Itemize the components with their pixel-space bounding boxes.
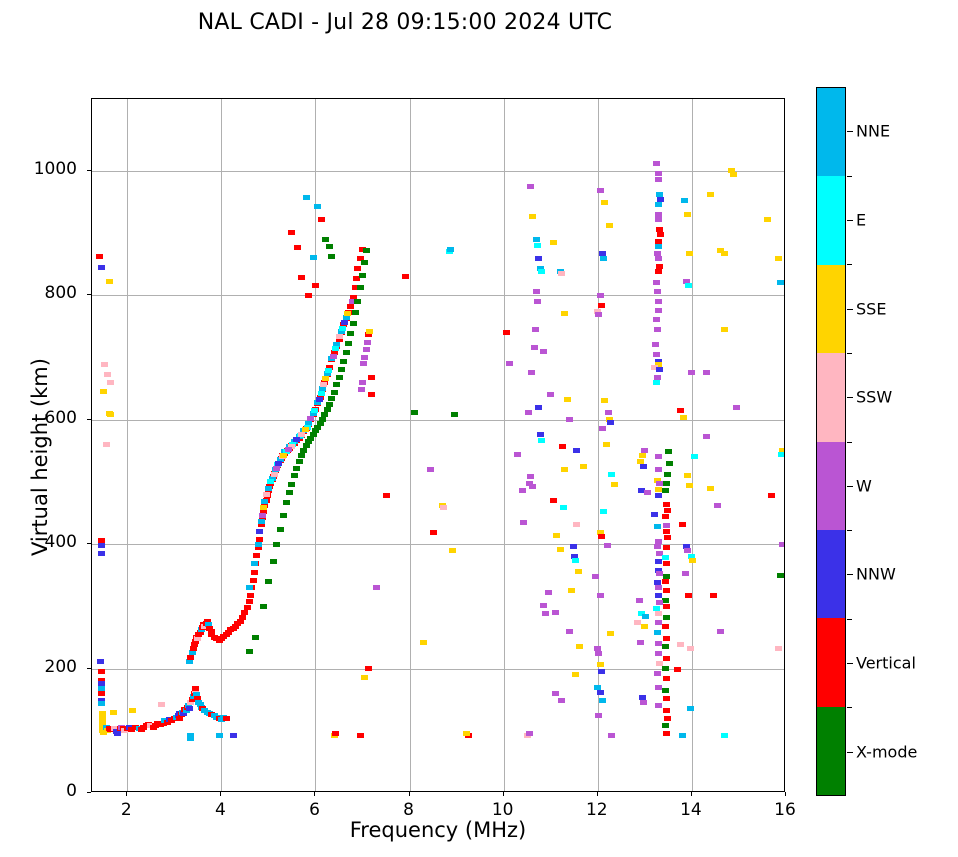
echo-point (542, 611, 549, 616)
colorbar-label-vertical: Vertical (856, 654, 916, 673)
echo-point (253, 553, 260, 558)
echo-point (601, 200, 608, 205)
echo-point (363, 347, 370, 352)
echo-point (533, 289, 540, 294)
echo-point (534, 243, 541, 248)
echo-point (595, 651, 602, 656)
x-tick-mark (126, 792, 127, 796)
x-tick-label: 2 (96, 800, 156, 820)
echo-point (733, 405, 740, 410)
echo-point (655, 467, 662, 472)
echo-point (550, 498, 557, 503)
y-tick-label: 1000 (17, 159, 77, 179)
echo-point (714, 503, 721, 508)
echo-point (340, 359, 347, 364)
echo-point (325, 368, 332, 373)
echo-point (298, 275, 305, 280)
echo-point (332, 346, 339, 351)
y-tick-mark (87, 543, 91, 544)
echo-point (655, 703, 662, 708)
echo-point (291, 473, 298, 478)
echo-point (98, 691, 105, 696)
echo-point (158, 702, 165, 707)
echo-point (328, 254, 335, 259)
echo-point (358, 387, 365, 392)
colorbar-tick (847, 131, 853, 132)
echo-point (559, 444, 566, 449)
echo-point (552, 610, 559, 615)
echo-point (440, 505, 447, 510)
echo-point (656, 481, 663, 486)
echo-point (265, 579, 272, 584)
echo-point (598, 534, 605, 539)
echo-point (663, 636, 670, 641)
echo-point (265, 486, 272, 491)
echo-point (359, 380, 366, 385)
echo-point (608, 733, 615, 738)
echo-point (357, 285, 364, 290)
echo-point (710, 593, 717, 598)
x-tick-mark (220, 792, 221, 796)
echo-point (777, 573, 784, 578)
echo-point (655, 171, 662, 176)
echo-point (324, 407, 331, 412)
echo-point (189, 650, 196, 655)
echo-point (654, 524, 661, 529)
echo-point (537, 432, 544, 437)
echo-point (525, 410, 532, 415)
echo-point (430, 530, 437, 535)
echo-point (280, 513, 287, 518)
echo-point (332, 731, 339, 736)
colorbar-band-nnw[interactable] (817, 530, 845, 618)
echo-point (255, 542, 262, 547)
echo-point (607, 420, 614, 425)
echo-point (503, 330, 510, 335)
echo-point (354, 299, 361, 304)
echo-point (361, 355, 368, 360)
x-tick-mark (597, 792, 598, 796)
echo-point (318, 391, 325, 396)
echo-point (604, 543, 611, 548)
echo-point (558, 271, 565, 276)
echo-point (662, 555, 669, 560)
echo-point (601, 398, 608, 403)
echo-point (540, 603, 547, 608)
echo-point (527, 474, 534, 479)
echo-point (336, 334, 343, 339)
echo-point (655, 585, 662, 590)
echo-point (463, 731, 470, 736)
echo-point (662, 666, 669, 671)
echo-point (538, 269, 545, 274)
echo-point (644, 490, 651, 495)
echo-point (721, 733, 728, 738)
echo-point (592, 574, 599, 579)
colorbar-tick (847, 220, 853, 221)
echo-point (637, 640, 644, 645)
colorbar-band-w[interactable] (817, 442, 845, 530)
echo-point (363, 248, 370, 253)
echo-point (550, 240, 557, 245)
x-tick-mark (409, 792, 410, 796)
colorbar-tick (847, 486, 853, 487)
echo-point (595, 312, 602, 317)
echo-point (273, 542, 280, 547)
colorbar-tick (847, 574, 853, 575)
echo-point (354, 266, 361, 271)
echo-point (285, 447, 292, 452)
echo-point (293, 437, 300, 442)
echo-point (764, 217, 771, 222)
echo-point (529, 484, 536, 489)
colorbar-band-nne[interactable] (817, 88, 845, 176)
echo-point (653, 280, 660, 285)
echo-point (655, 177, 662, 182)
echo-point (540, 349, 547, 354)
colorbar-tick (847, 663, 853, 664)
echo-point (662, 644, 669, 649)
colorbar-label-x-mode: X-mode (856, 742, 917, 761)
echo-point (655, 487, 662, 492)
echo-point (775, 646, 782, 651)
echo-point (364, 340, 371, 345)
echo-point (684, 212, 691, 217)
echo-point (655, 217, 662, 222)
echo-point (260, 604, 267, 609)
echo-point (347, 304, 354, 309)
echo-point (447, 247, 454, 252)
y-tick-label: 0 (17, 781, 77, 801)
echo-point (707, 192, 714, 197)
echo-point (663, 561, 670, 566)
echo-point (534, 299, 541, 304)
echo-point (685, 283, 692, 288)
echo-point (273, 466, 280, 471)
echo-point (368, 392, 375, 397)
echo-point (662, 514, 669, 519)
echo-point (600, 256, 607, 261)
echo-point (302, 427, 309, 432)
echo-point (187, 736, 194, 741)
echo-point (662, 688, 669, 693)
echo-point (598, 669, 605, 674)
colorbar-boundary-tick (847, 353, 852, 354)
echo-point (607, 631, 614, 636)
echo-point (98, 265, 105, 270)
echo-point (526, 731, 533, 736)
echo-point (663, 502, 670, 507)
echo-point (277, 527, 284, 532)
echo-point (597, 662, 604, 667)
plot-area[interactable] (91, 98, 785, 792)
echo-point (271, 472, 278, 477)
echo-point (366, 329, 373, 334)
echo-point (320, 382, 327, 387)
echo-point (106, 279, 113, 284)
echo-point (98, 669, 105, 674)
echo-point (687, 646, 694, 651)
echo-point (684, 548, 691, 553)
echo-point (775, 256, 782, 261)
y-axis-label: Virtual height (km) (28, 207, 52, 707)
echo-point (347, 331, 354, 336)
echo-point (655, 244, 662, 249)
echo-point (129, 708, 136, 713)
echo-point (270, 559, 277, 564)
echo-point (575, 569, 582, 574)
echo-point (721, 251, 728, 256)
colorbar-boundary-tick (847, 264, 852, 265)
echo-point (640, 700, 647, 705)
x-tick-label: 12 (567, 800, 627, 820)
echo-point (570, 544, 577, 549)
echo-point (566, 629, 573, 634)
echo-point (730, 172, 737, 177)
echo-point (247, 593, 254, 598)
echo-point (360, 361, 367, 366)
echo-point (216, 733, 223, 738)
echo-point (331, 390, 338, 395)
echo-point (286, 490, 293, 495)
echo-point (223, 716, 230, 721)
echo-point (316, 397, 323, 402)
echo-point (250, 578, 257, 583)
echo-point (655, 299, 662, 304)
echo-point (361, 675, 368, 680)
echo-point (664, 472, 671, 477)
echo-point (564, 397, 571, 402)
echo-point (98, 543, 105, 548)
echo-point (103, 442, 110, 447)
echo-point (663, 708, 670, 713)
echo-point (655, 493, 662, 498)
echo-point (656, 367, 663, 372)
echo-point (101, 362, 108, 367)
echo-point (338, 367, 345, 372)
echo-point (663, 676, 670, 681)
echo-point (528, 370, 535, 375)
x-tick-label: 8 (379, 800, 439, 820)
echo-point (506, 361, 513, 366)
echo-point (721, 327, 728, 332)
echo-point (597, 593, 604, 598)
echo-point (655, 308, 662, 313)
echo-point (611, 482, 618, 487)
echo-point (514, 452, 521, 457)
echo-point (663, 481, 670, 486)
echo-point (411, 410, 418, 415)
echo-point (603, 442, 610, 447)
echo-point (599, 698, 606, 703)
echo-point (663, 588, 670, 593)
echo-point (114, 731, 121, 736)
echo-point (187, 655, 194, 660)
echo-point (685, 593, 692, 598)
echo-point (322, 237, 329, 242)
echo-point (666, 461, 673, 466)
x-tick-label: 10 (473, 800, 533, 820)
echo-point (606, 223, 613, 228)
echo-point (655, 256, 662, 261)
echo-point (717, 629, 724, 634)
echo-point (679, 522, 686, 527)
echo-point (547, 392, 554, 397)
echo-point (663, 615, 670, 620)
echo-point (677, 642, 684, 647)
echo-point (664, 716, 671, 721)
echo-point (653, 380, 660, 385)
echo-point (288, 482, 295, 487)
echo-point (336, 375, 343, 380)
colorbar-band-ssw[interactable] (817, 353, 845, 441)
x-axis-label: Frequency (MHz) (91, 818, 785, 842)
echo-point (665, 449, 672, 454)
echo-point (654, 630, 661, 635)
colorbar-band-e[interactable] (817, 176, 845, 264)
echo-point (100, 389, 107, 394)
echo-point (677, 408, 684, 413)
echo-point (107, 412, 114, 417)
echo-point (561, 467, 568, 472)
echo-point (333, 382, 340, 387)
echo-point (654, 327, 661, 332)
echo-point (545, 590, 552, 595)
echo-point (654, 544, 661, 549)
echo-point (655, 651, 662, 656)
echo-point (552, 691, 559, 696)
echo-point (365, 666, 372, 671)
echo-point (535, 405, 542, 410)
echo-point (664, 508, 671, 513)
echo-point (449, 548, 456, 553)
echo-point (597, 293, 604, 298)
echo-point (288, 230, 295, 235)
echo-point (557, 547, 564, 552)
echo-point (654, 671, 661, 676)
echo-point (328, 396, 335, 401)
echo-point (662, 579, 669, 584)
echo-point (294, 245, 301, 250)
x-tick-mark (785, 792, 786, 796)
colorbar-tick (847, 309, 853, 310)
colorbar-label-nne: NNE (856, 122, 890, 141)
echo-point (311, 408, 318, 413)
echo-point (420, 640, 427, 645)
echo-point (529, 214, 536, 219)
y-tick-mark (87, 294, 91, 295)
echo-point (98, 701, 105, 706)
echo-point (104, 372, 111, 377)
echo-point (246, 649, 253, 654)
echo-point (97, 659, 104, 664)
colorbar-tick (847, 752, 853, 753)
ionogram-figure: NAL CADI - Jul 28 09:15:00 2024 UTC 2468… (0, 0, 958, 857)
echo-point (654, 289, 661, 294)
echo-point (314, 204, 321, 209)
echo-point (330, 354, 337, 359)
echo-point (192, 686, 199, 691)
echo-point (519, 488, 526, 493)
echo-point (768, 493, 775, 498)
echo-point (339, 326, 346, 331)
echo-point (343, 350, 350, 355)
echo-point (261, 499, 268, 504)
echo-point (341, 320, 348, 325)
echo-point (307, 416, 314, 421)
echo-point (322, 376, 329, 381)
echo-point (298, 453, 305, 458)
echo-point (305, 293, 312, 298)
echo-point (779, 542, 785, 547)
echo-point (310, 255, 317, 260)
echo-point (662, 624, 669, 629)
echo-point (368, 375, 375, 380)
colorbar[interactable] (816, 87, 846, 796)
echo-point (778, 452, 785, 457)
echo-point (597, 690, 604, 695)
x-tick-mark (503, 792, 504, 796)
echo-point (655, 611, 662, 616)
colorbar-boundary-tick (847, 176, 852, 177)
echo-point (561, 311, 568, 316)
echo-point (663, 529, 670, 534)
echo-point (251, 561, 258, 566)
colorbar-band-sse[interactable] (817, 265, 845, 353)
echo-point (361, 260, 368, 265)
echo-point (576, 644, 583, 649)
x-tick-label: 14 (661, 800, 721, 820)
echo-point (573, 522, 580, 527)
echo-point (560, 505, 567, 510)
echo-point (642, 614, 649, 619)
echo-point (186, 706, 193, 711)
echo-point (194, 636, 201, 641)
echo-point (283, 500, 290, 505)
echo-point (686, 483, 693, 488)
echo-point (639, 453, 646, 458)
echo-point (533, 237, 540, 242)
echo-point (263, 492, 270, 497)
echo-point (598, 303, 605, 308)
echo-point (687, 706, 694, 711)
echo-point (259, 513, 266, 518)
echo-point (275, 461, 282, 466)
x-tick-label: 4 (190, 800, 250, 820)
echo-point (605, 410, 612, 415)
colorbar-band-x-mode[interactable] (817, 707, 845, 795)
echo-point (267, 479, 274, 484)
colorbar-band-vertical[interactable] (817, 618, 845, 706)
echo-point (251, 570, 258, 575)
echo-point (350, 321, 357, 326)
echo-point (558, 698, 565, 703)
echo-point (246, 599, 253, 604)
echo-point (352, 310, 359, 315)
echo-point (566, 417, 573, 422)
echo-point (373, 585, 380, 590)
echo-point (689, 558, 696, 563)
x-tick-mark (314, 792, 315, 796)
colorbar-label-nnw: NNW (856, 565, 896, 584)
echo-point (680, 415, 687, 420)
echo-point (663, 696, 670, 701)
echo-point (532, 327, 539, 332)
echo-point (293, 466, 300, 471)
echo-point (597, 188, 604, 193)
echo-point (686, 251, 693, 256)
colorbar-label-sse: SSE (856, 299, 886, 318)
